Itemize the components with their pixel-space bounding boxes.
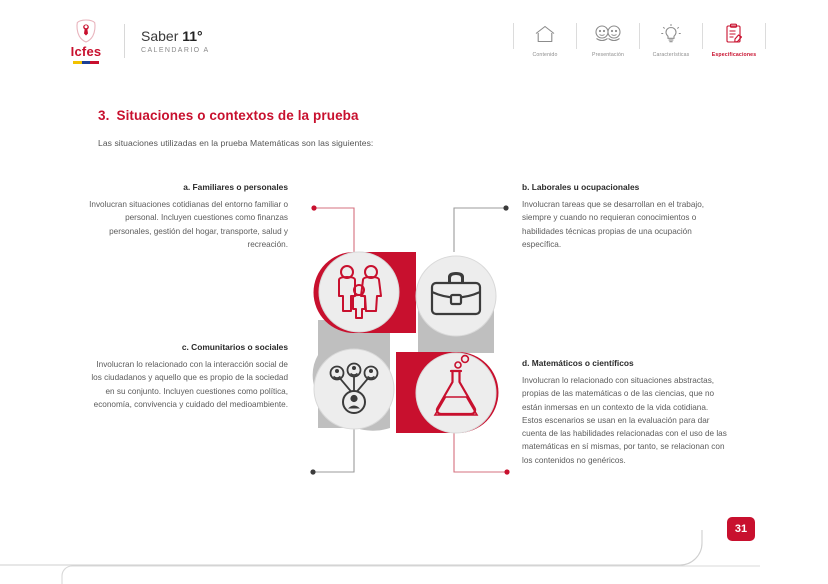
block-comunitarios: c. Comunitarios o sociales Involucran lo… [88, 342, 288, 411]
brand-title-bold: 11° [182, 28, 202, 44]
lightbulb-icon [660, 20, 682, 48]
block-body-a: Involucran situaciones cotidianas del en… [88, 198, 288, 251]
icon-circle-laborales [416, 256, 496, 336]
brand-title-plain: Saber [141, 28, 182, 44]
nav-label-caracteristicas: Características [653, 52, 690, 58]
section-intro: Las situaciones utilizadas en la prueba … [98, 138, 373, 148]
document-page: Icfes Saber 11° CALENDARIO A [0, 0, 828, 584]
nav-label-contenido: Contenido [532, 52, 557, 58]
icfes-wordmark: Icfes [71, 45, 102, 58]
block-body-b: Involucran tareas que se desarrollan en … [522, 198, 722, 251]
section-heading: 3.Situaciones o contextos de la prueba [98, 108, 359, 123]
footer-decorative-curve [0, 500, 828, 584]
block-body-d: Involucran lo relacionado con situacione… [522, 374, 727, 467]
brand-lockup: Icfes Saber 11° CALENDARIO A [62, 18, 210, 64]
nav-item-contenido[interactable]: Contenido [514, 20, 576, 58]
icfes-logo: Icfes [62, 18, 110, 64]
section-number: 3. [98, 108, 109, 123]
nav-item-presentacion[interactable]: Presentación [577, 20, 639, 58]
nav-separator [765, 23, 766, 49]
situations-quadrant-diagram [300, 195, 520, 485]
block-heading-c: c. Comunitarios o sociales [88, 342, 288, 352]
people-icon [593, 20, 623, 48]
clipboard-check-icon [723, 20, 745, 48]
block-matematicos: d. Matemáticos o científicos Involucran … [522, 358, 727, 467]
section-title: Situaciones o contextos de la prueba [116, 108, 358, 123]
block-heading-b: b. Laborales u ocupacionales [522, 182, 722, 192]
icon-circle-comunitarios [314, 349, 394, 429]
connector-bottom-left [310, 428, 354, 475]
home-icon [534, 20, 556, 48]
block-heading-d: d. Matemáticos o científicos [522, 358, 727, 368]
connector-top-right [454, 205, 509, 252]
icon-circle-familiares [319, 252, 399, 332]
page-header: Icfes Saber 11° CALENDARIO A [0, 0, 828, 76]
connector-bottom-right [454, 428, 510, 475]
icfes-shield-icon [73, 18, 99, 44]
icon-circle-matematicos [416, 353, 496, 433]
colombia-flag-bar [73, 61, 99, 64]
block-body-c: Involucran lo relacionado con la interac… [88, 358, 288, 411]
nav-item-caracteristicas[interactable]: Características [640, 20, 702, 58]
connector-top-left [311, 205, 354, 252]
page-number-badge: 31 [727, 517, 755, 541]
brand-subtitle: CALENDARIO A [141, 47, 210, 54]
block-laborales: b. Laborales u ocupacionales Involucran … [522, 182, 722, 251]
block-familiares: a. Familiares o personales Involucran si… [88, 182, 288, 251]
header-nav: Contenido Presentación [513, 20, 766, 58]
nav-item-especificaciones[interactable]: Especificaciones [703, 20, 765, 58]
nav-label-presentacion: Presentación [592, 52, 624, 58]
nav-label-especificaciones: Especificaciones [712, 52, 757, 58]
brand-title: Saber 11° [141, 28, 210, 45]
brand-divider [124, 24, 125, 58]
block-heading-a: a. Familiares o personales [88, 182, 288, 192]
brand-titles: Saber 11° CALENDARIO A [141, 28, 210, 55]
